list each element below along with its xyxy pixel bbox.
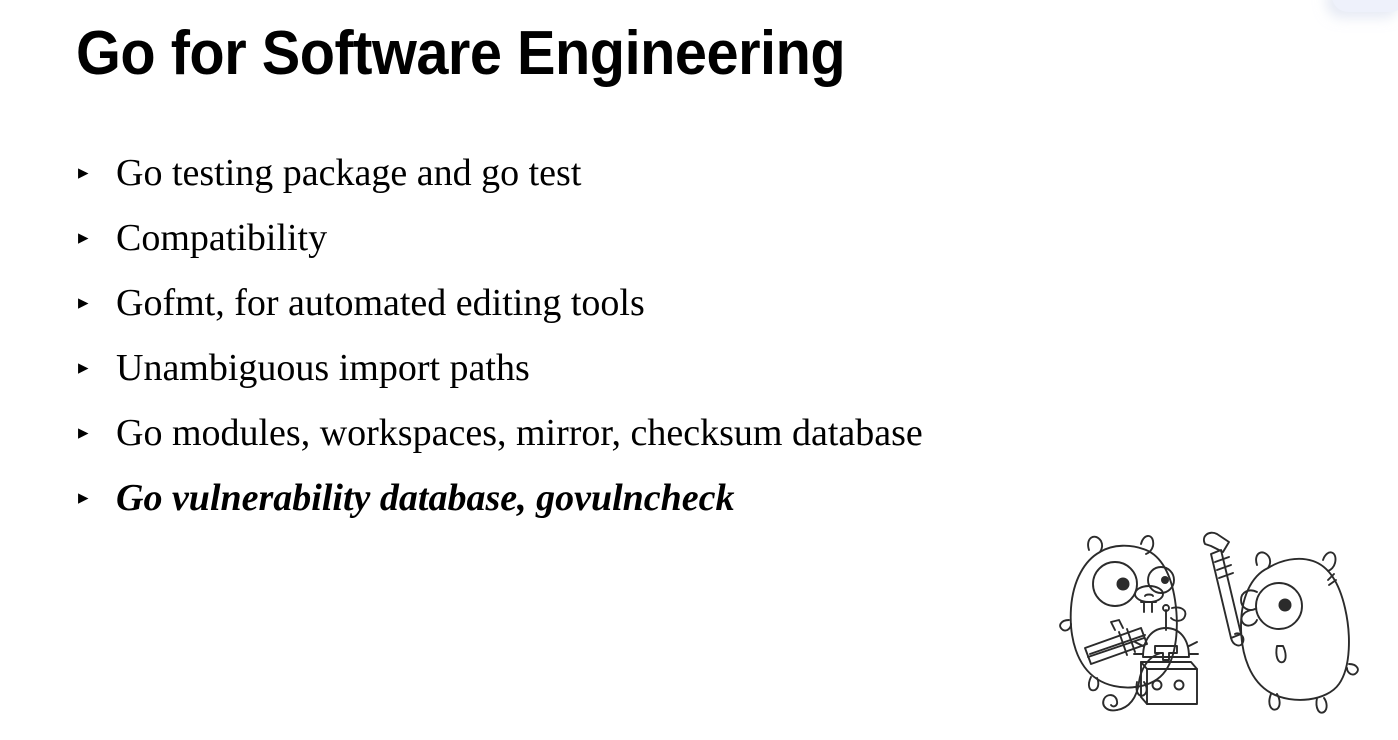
list-item: ▸ Go modules, workspaces, mirror, checks…: [78, 410, 1318, 475]
list-item-label: Go testing package and go test: [116, 150, 581, 196]
left-gopher-tool: [1085, 620, 1147, 664]
page-title: Go for Software Engineering: [76, 16, 845, 92]
list-item-label: Gofmt, for automated editing tools: [116, 280, 645, 326]
triangle-bullet-icon: ▸: [78, 487, 116, 508]
triangle-bullet-icon: ▸: [78, 357, 116, 378]
go-gophers-illustration: [1045, 522, 1385, 737]
presentation-slide: Go for Software Engineering ▸ Go testing…: [0, 0, 1398, 740]
list-item: ▸ Go testing package and go test: [78, 150, 1318, 215]
triangle-bullet-icon: ▸: [78, 162, 116, 183]
list-item: ▸ Compatibility: [78, 215, 1318, 280]
triangle-bullet-icon: ▸: [78, 227, 116, 248]
viewer-corner-artifact: [1332, 0, 1398, 12]
triangle-bullet-icon: ▸: [78, 422, 116, 443]
right-gopher: [1204, 533, 1358, 713]
pipe-wrench: [1204, 533, 1243, 646]
list-item-label: Go modules, workspaces, mirror, checksum…: [116, 410, 923, 456]
list-item: ▸ Unambiguous import paths: [78, 345, 1318, 410]
list-item: ▸ Gofmt, for automated editing tools: [78, 280, 1318, 345]
list-item-label: Unambiguous import paths: [116, 345, 530, 391]
list-item-label: Go vulnerability database, govulncheck: [116, 475, 735, 521]
bullet-list: ▸ Go testing package and go test ▸ Compa…: [78, 150, 1318, 540]
triangle-bullet-icon: ▸: [78, 292, 116, 313]
list-item-label: Compatibility: [116, 215, 327, 261]
